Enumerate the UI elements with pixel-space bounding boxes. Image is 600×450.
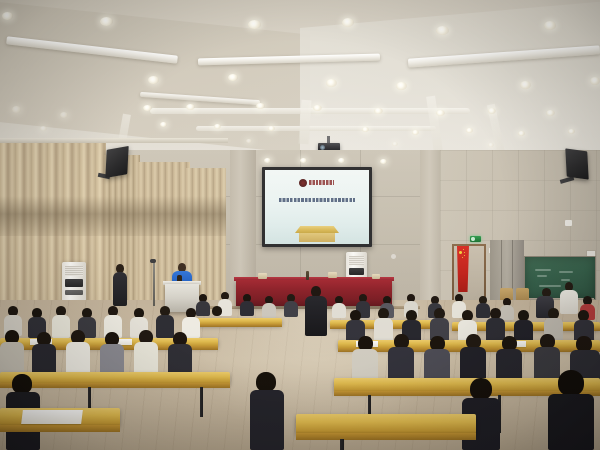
desk-edge [0, 425, 120, 432]
downlight [12, 106, 21, 113]
audience-member [66, 330, 90, 376]
attendant-black-shirt [304, 286, 328, 336]
downlight [300, 158, 307, 163]
ac-panel[interactable] [65, 279, 83, 287]
slide-logo-text [309, 180, 334, 185]
speaker-right [565, 148, 588, 179]
desk-row-foreground [0, 408, 120, 434]
desk-edge [296, 433, 476, 440]
desk-leg [200, 387, 203, 417]
downlight [264, 158, 271, 163]
downlight [466, 128, 473, 133]
name-placard [328, 272, 337, 278]
torso [208, 315, 226, 338]
audience-member [262, 296, 276, 318]
chalk-writing [559, 271, 573, 273]
downlight [568, 129, 575, 134]
chalk-writing [561, 279, 570, 281]
slide-gate-illustration [295, 226, 339, 242]
attendant-torso [305, 296, 327, 336]
audience-member [388, 334, 414, 384]
audience-member [332, 296, 346, 318]
desk-row-far [186, 318, 282, 328]
speaker-left [105, 146, 128, 178]
audience-member [284, 294, 298, 317]
slide-title-text [279, 198, 355, 202]
desk-top [296, 414, 476, 434]
downlight [338, 158, 345, 163]
curtain-rail [0, 138, 228, 143]
flag-star-small [463, 249, 464, 250]
handout-paper [21, 410, 83, 424]
desk-row-foreground [296, 414, 476, 442]
downlight [380, 159, 387, 164]
downlight [326, 79, 337, 87]
flag-star-large [459, 251, 462, 254]
downlight [313, 105, 322, 111]
projection-screen[interactable] [262, 167, 372, 247]
downlight [143, 105, 152, 111]
slide-logo [299, 179, 335, 187]
downlight [392, 142, 398, 146]
flag-star-small [464, 252, 465, 253]
audience-member [0, 330, 24, 374]
audience-member [208, 306, 226, 338]
audience-member [460, 334, 486, 384]
downlight [436, 110, 445, 116]
downlight [342, 18, 354, 27]
head [470, 378, 492, 400]
name-placard [372, 274, 380, 279]
downlight [186, 104, 195, 110]
ac-vent [349, 256, 364, 265]
ac-vent [65, 266, 83, 276]
chalk-writing [539, 285, 561, 287]
downlight [60, 112, 68, 118]
torso [332, 303, 346, 318]
torso [548, 394, 594, 450]
ac-panel[interactable] [349, 268, 364, 275]
curtain-shadow-band [0, 196, 226, 236]
attendant-torso [113, 272, 127, 306]
downlight [488, 143, 494, 147]
mic-stand [153, 262, 155, 306]
downlight [246, 139, 252, 143]
downlight [518, 131, 525, 136]
downlight [396, 82, 407, 90]
name-placard [258, 273, 267, 279]
downlight [268, 126, 275, 131]
wall-plate-left [391, 254, 396, 259]
desk-edge [186, 324, 282, 327]
downlight [2, 12, 13, 20]
audience-member [32, 332, 56, 376]
torso [134, 342, 158, 376]
downlight [436, 26, 449, 35]
head [12, 374, 32, 394]
downlight [214, 124, 221, 129]
ac-panel-lower [65, 290, 83, 295]
downlight [40, 126, 47, 131]
lecture-hall-photo [0, 0, 600, 450]
audience-member [240, 294, 254, 316]
chinese-national-flag [457, 246, 469, 292]
downlight [544, 21, 556, 30]
downlight [374, 108, 383, 114]
downlight [488, 108, 496, 114]
water-bottle [306, 271, 309, 280]
screen-surface [265, 170, 369, 244]
downlight [520, 81, 531, 89]
head [558, 370, 584, 396]
torso [262, 303, 276, 318]
downlight [412, 130, 419, 135]
torso [284, 301, 298, 317]
chalk-writing [535, 269, 551, 271]
ceiling-beam-b [196, 126, 436, 131]
gate-base [299, 233, 335, 242]
attendant-dark-clothing [112, 264, 128, 306]
downlight [148, 76, 159, 84]
downlight [160, 122, 167, 127]
torso [0, 342, 24, 374]
flag-star-small [464, 255, 465, 256]
desk-leg [340, 439, 344, 450]
downlight [546, 110, 555, 116]
audience-member [168, 332, 192, 376]
audience-member [424, 336, 450, 384]
microphone-head [150, 259, 156, 263]
downlight [590, 77, 600, 85]
torso [250, 390, 284, 450]
wall-sensor-right [565, 220, 572, 226]
audience-member [134, 330, 158, 376]
downlight [248, 20, 261, 29]
downlight [100, 17, 113, 26]
exit-sign [470, 236, 481, 242]
audience-member [496, 336, 522, 384]
head [256, 372, 276, 392]
slide-logo-emblem-icon [299, 179, 307, 187]
audience-member-foreground [250, 372, 284, 450]
downlight [256, 103, 265, 109]
audience-member-foreground [548, 370, 594, 450]
exit-running-man-icon [471, 237, 475, 241]
torso [66, 342, 90, 376]
downlight [362, 127, 369, 132]
torso [240, 301, 254, 316]
gate-roof [295, 226, 339, 233]
chalk-writing [537, 275, 547, 277]
flag-star-small [462, 257, 463, 258]
downlight [228, 74, 238, 81]
audience-member [100, 332, 124, 376]
audience-member [352, 336, 378, 384]
